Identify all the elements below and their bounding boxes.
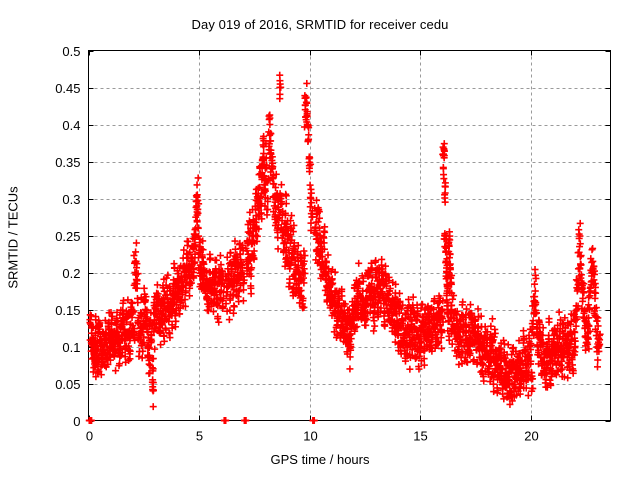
y-tick-label: 0.35: [55, 155, 80, 170]
y-tick-label: 0.4: [62, 118, 80, 133]
plot-frame: [89, 51, 611, 421]
y-tick-label: 0.45: [55, 81, 80, 96]
data-points: [86, 72, 604, 424]
x-tick-label: 0: [86, 429, 93, 444]
y-tick-label: 0.3: [62, 192, 80, 207]
axis-tick-labels: 00.050.10.150.20.250.30.350.40.450.50510…: [55, 44, 539, 444]
y-tick-label: 0.2: [62, 266, 80, 281]
y-tick-label: 0.15: [55, 303, 80, 318]
y-tick-label: 0.25: [55, 229, 80, 244]
x-tick-label: 20: [524, 429, 538, 444]
y-tick-label: 0.5: [62, 44, 80, 59]
plot-area: 00.050.10.150.20.250.30.350.40.450.50510…: [0, 0, 640, 480]
y-tick-label: 0: [73, 414, 80, 429]
gridlines: [89, 51, 611, 421]
x-tick-label: 5: [196, 429, 203, 444]
y-tick-label: 0.1: [62, 340, 80, 355]
x-tick-label: 15: [413, 429, 427, 444]
chart-container: Day 019 of 2016, SRMTID for receiver ced…: [0, 0, 640, 480]
x-tick-label: 10: [303, 429, 317, 444]
y-tick-label: 0.05: [55, 377, 80, 392]
